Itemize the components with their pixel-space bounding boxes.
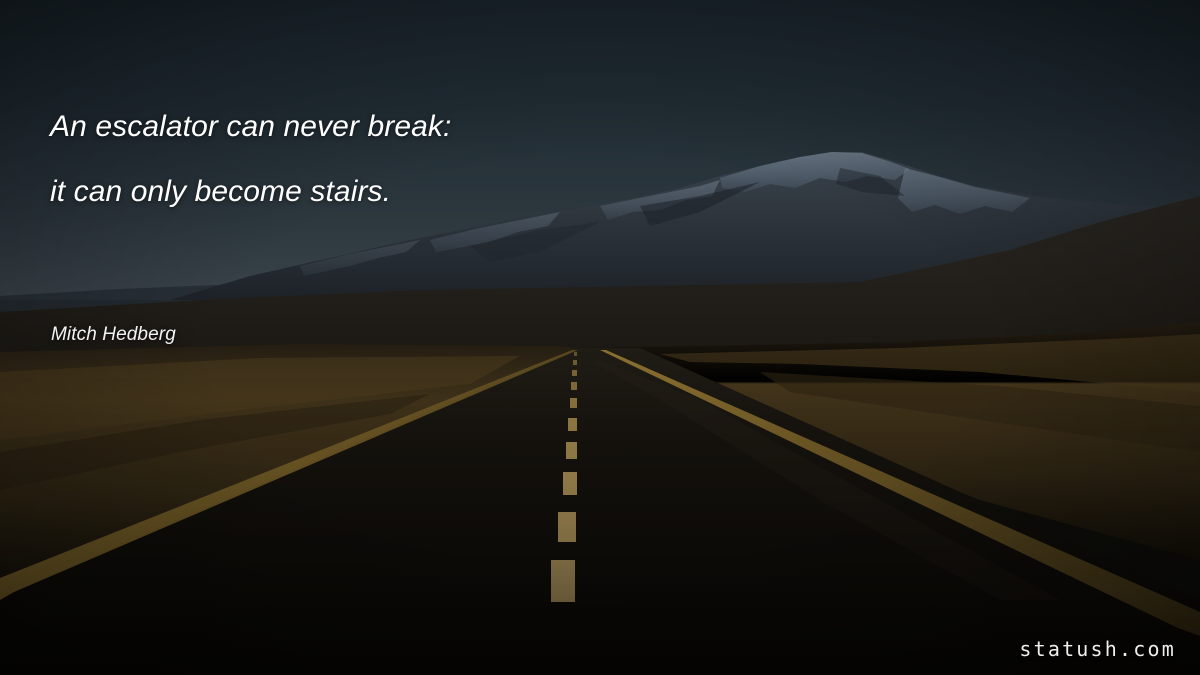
snow-cap-right	[898, 168, 1030, 214]
landscape-photo	[0, 0, 1200, 675]
quote-block: An escalator can never break: it can onl…	[50, 112, 810, 242]
quote-author: Mitch Hedberg	[51, 324, 176, 346]
quote-line-1: An escalator can never break:	[50, 112, 810, 142]
quote-card: An escalator can never break: it can onl…	[0, 0, 1200, 675]
quote-line-2: it can only become stairs.	[50, 177, 810, 207]
watermark-statush: statush.com	[1019, 637, 1176, 661]
